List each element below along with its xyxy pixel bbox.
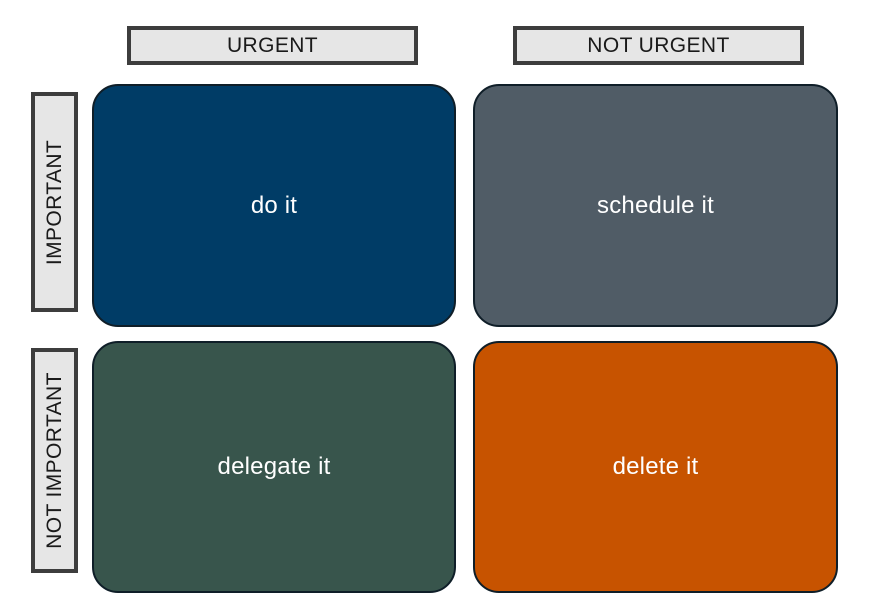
quadrant-delegate-it-label: delegate it — [218, 455, 331, 479]
quadrant-delete-it[interactable]: delete it — [473, 341, 838, 593]
quadrant-schedule-it[interactable]: schedule it — [473, 84, 838, 327]
row-header-important: IMPORTANT — [31, 92, 78, 312]
column-header-urgent-label: URGENT — [227, 34, 318, 58]
quadrant-do-it-label: do it — [251, 194, 297, 218]
quadrant-delegate-it[interactable]: delegate it — [92, 341, 456, 593]
column-header-urgent: URGENT — [127, 26, 418, 65]
column-header-not-urgent: NOT URGENT — [513, 26, 804, 65]
row-header-important-label: IMPORTANT — [44, 139, 65, 264]
quadrant-delete-it-label: delete it — [613, 455, 699, 479]
quadrant-do-it[interactable]: do it — [92, 84, 456, 327]
quadrant-schedule-it-label: schedule it — [597, 194, 714, 218]
eisenhower-matrix-diagram: URGENT NOT URGENT IMPORTANT NOT IMPORTAN… — [0, 0, 887, 612]
column-header-not-urgent-label: NOT URGENT — [587, 34, 729, 58]
row-header-not-important-label: NOT IMPORTANT — [44, 372, 65, 549]
row-header-not-important: NOT IMPORTANT — [31, 348, 78, 573]
